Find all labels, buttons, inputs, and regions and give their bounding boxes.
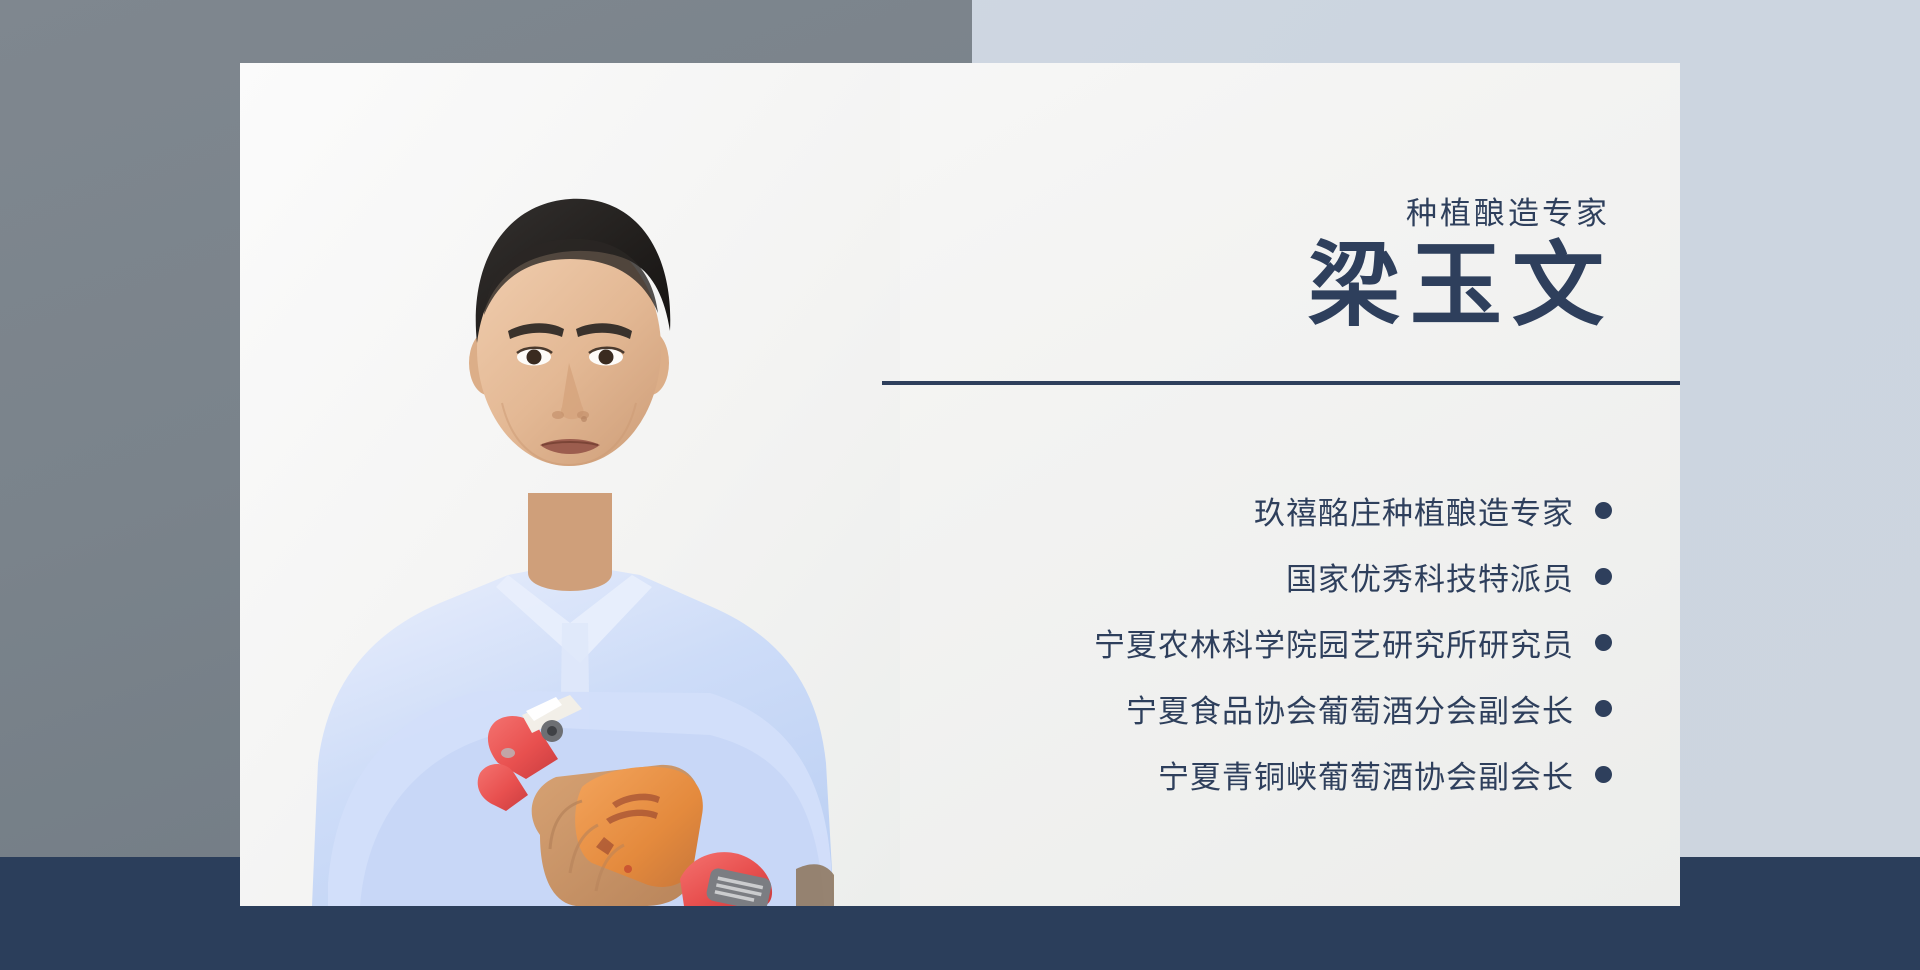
bullet-dot-icon <box>1595 502 1612 519</box>
bullet-dot-icon <box>1595 634 1612 651</box>
expert-profile-banner: 种植酿造专家 梁玉文 玖禧酩庄种植酿造专家 国家优秀科技特派员 宁夏农林科学院园… <box>0 0 1920 970</box>
bullet-dot-icon <box>1595 766 1612 783</box>
bullet-dot-icon <box>1595 700 1612 717</box>
list-item: 宁夏食品协会葡萄酒分会副会长 <box>1094 675 1612 741</box>
credential-text: 宁夏农林科学院园艺研究所研究员 <box>1094 620 1574 665</box>
profile-card: 种植酿造专家 梁玉文 玖禧酩庄种植酿造专家 国家优秀科技特派员 宁夏农林科学院园… <box>240 63 1680 906</box>
list-item: 宁夏青铜峡葡萄酒协会副会长 <box>1094 741 1612 807</box>
bullet-dot-icon <box>1595 568 1612 585</box>
portrait-photo <box>240 63 900 906</box>
credential-text: 国家优秀科技特派员 <box>1286 554 1574 599</box>
portrait-illustration <box>240 63 900 906</box>
list-item: 玖禧酩庄种植酿造专家 <box>1094 477 1612 543</box>
profile-content: 种植酿造专家 梁玉文 玖禧酩庄种植酿造专家 国家优秀科技特派员 宁夏农林科学院园… <box>900 63 1680 906</box>
divider-line <box>882 381 1680 385</box>
expert-name: 梁玉文 <box>1298 238 1614 335</box>
list-item: 国家优秀科技特派员 <box>1094 543 1612 609</box>
credential-text: 宁夏食品协会葡萄酒分会副会长 <box>1126 686 1574 731</box>
credential-text: 宁夏青铜峡葡萄酒协会副会长 <box>1158 752 1574 797</box>
list-item: 宁夏农林科学院园艺研究所研究员 <box>1094 609 1612 675</box>
work-glove <box>532 765 703 906</box>
credentials-list: 玖禧酩庄种植酿造专家 国家优秀科技特派员 宁夏农林科学院园艺研究所研究员 宁夏食… <box>1094 477 1612 807</box>
expert-subtitle: 种植酿造专家 <box>1406 188 1610 233</box>
credential-text: 玖禧酩庄种植酿造专家 <box>1254 488 1574 533</box>
